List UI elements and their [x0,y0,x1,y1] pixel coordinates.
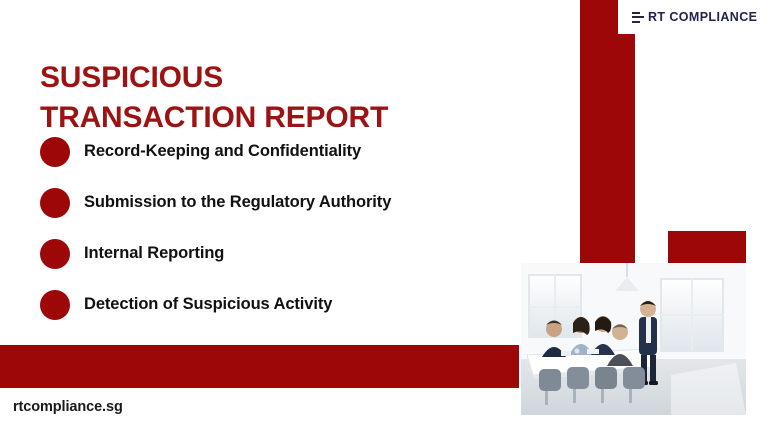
page-title-line-1: SUSPICIOUS [40,61,223,94]
list-item-label: Internal Reporting [84,244,224,263]
list-item-label: Detection of Suspicious Activity [84,295,332,314]
footer-website-url[interactable]: rtcompliance.sg [13,399,123,415]
list-item: Submission to the Regulatory Authority [40,177,510,228]
accent-bar-vertical [580,0,635,266]
brand-name: RT COMPLIANCE [648,10,757,24]
bullet-list: Record-Keeping and Confidentiality Submi… [40,126,510,330]
brand-logo[interactable]: RT COMPLIANCE [618,0,768,34]
bullet-dot-icon [40,137,70,167]
list-item: Detection of Suspicious Activity [40,279,510,330]
list-item-label: Record-Keeping and Confidentiality [84,142,361,161]
accent-bar-bottom [0,345,519,388]
bullet-dot-icon [40,290,70,320]
meeting-photo [521,263,746,415]
bullet-dot-icon [40,188,70,218]
three-bars-icon [632,12,644,23]
list-item: Internal Reporting [40,228,510,279]
bullet-dot-icon [40,239,70,269]
slide-canvas: RT COMPLIANCE SUSPICIOUS TRANSACTION REP… [0,0,768,432]
meeting-photo-illustration [521,263,746,415]
list-item-label: Submission to the Regulatory Authority [84,193,391,212]
list-item: Record-Keeping and Confidentiality [40,126,510,177]
